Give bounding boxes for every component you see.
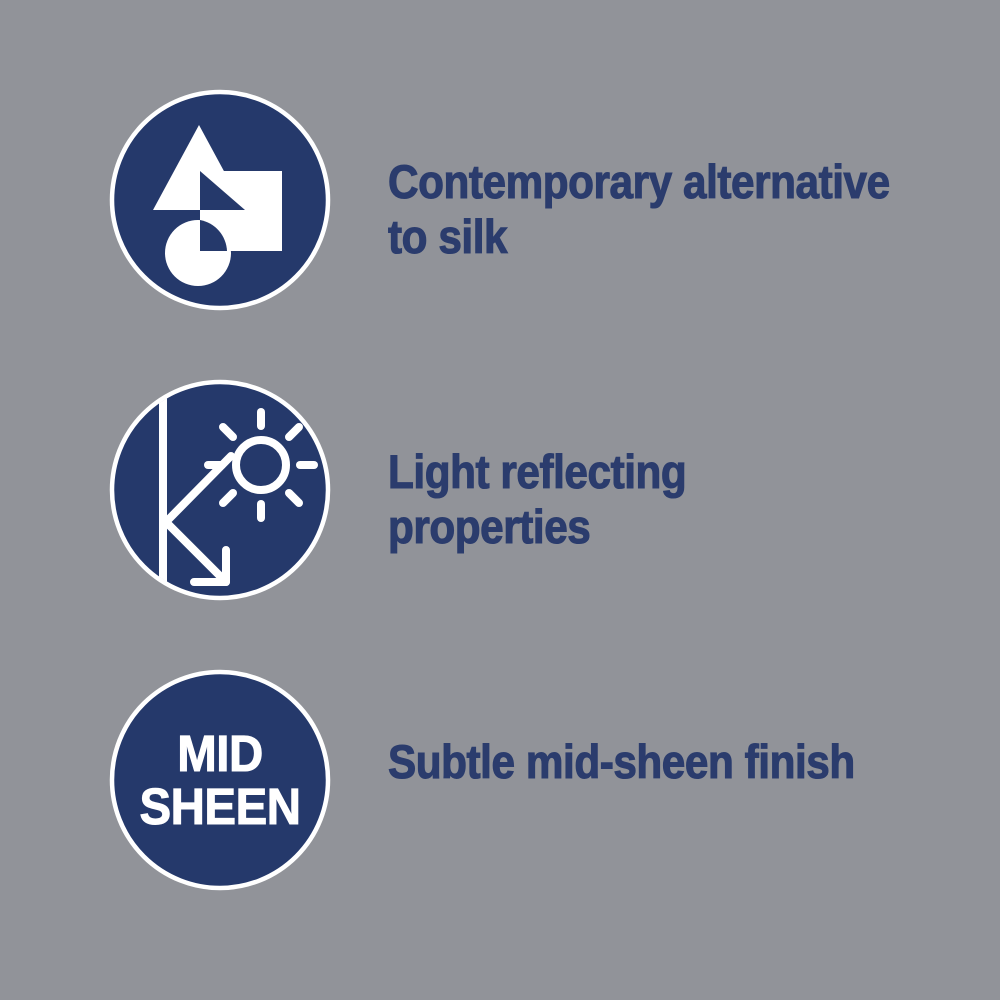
- feature-label: Subtle mid-sheen finish: [388, 735, 892, 790]
- feature-row: Contemporary alternative to silk: [0, 55, 1000, 345]
- feature-list: Contemporary alternative to silk: [0, 0, 1000, 1000]
- feature-row: MID SHEEN Subtle mid-sheen finish: [0, 635, 1000, 925]
- mid-sheen-badge-icon: MID SHEEN: [110, 670, 330, 890]
- shapes-triangle-square-circle-icon: [110, 90, 330, 310]
- feature-label: Light reflecting properties: [388, 445, 892, 555]
- sun-light-reflecting-icon: [110, 380, 330, 600]
- feature-row: Light reflecting properties: [0, 345, 1000, 635]
- feature-label: Contemporary alternative to silk: [388, 155, 892, 265]
